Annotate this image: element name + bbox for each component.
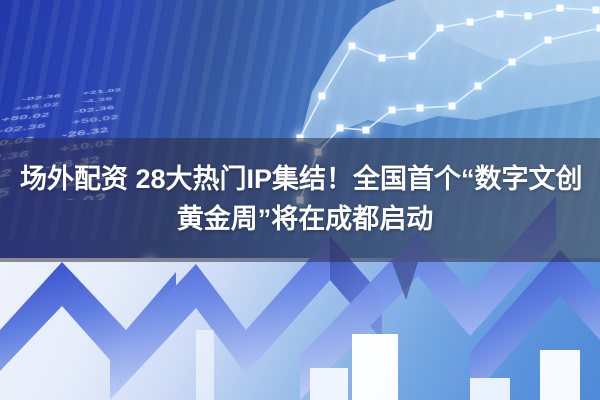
headline-overlay-band	[0, 138, 600, 262]
news-banner: -11.25+50.02-02.36+21.02-02.36-11.25+45.…	[0, 0, 600, 400]
